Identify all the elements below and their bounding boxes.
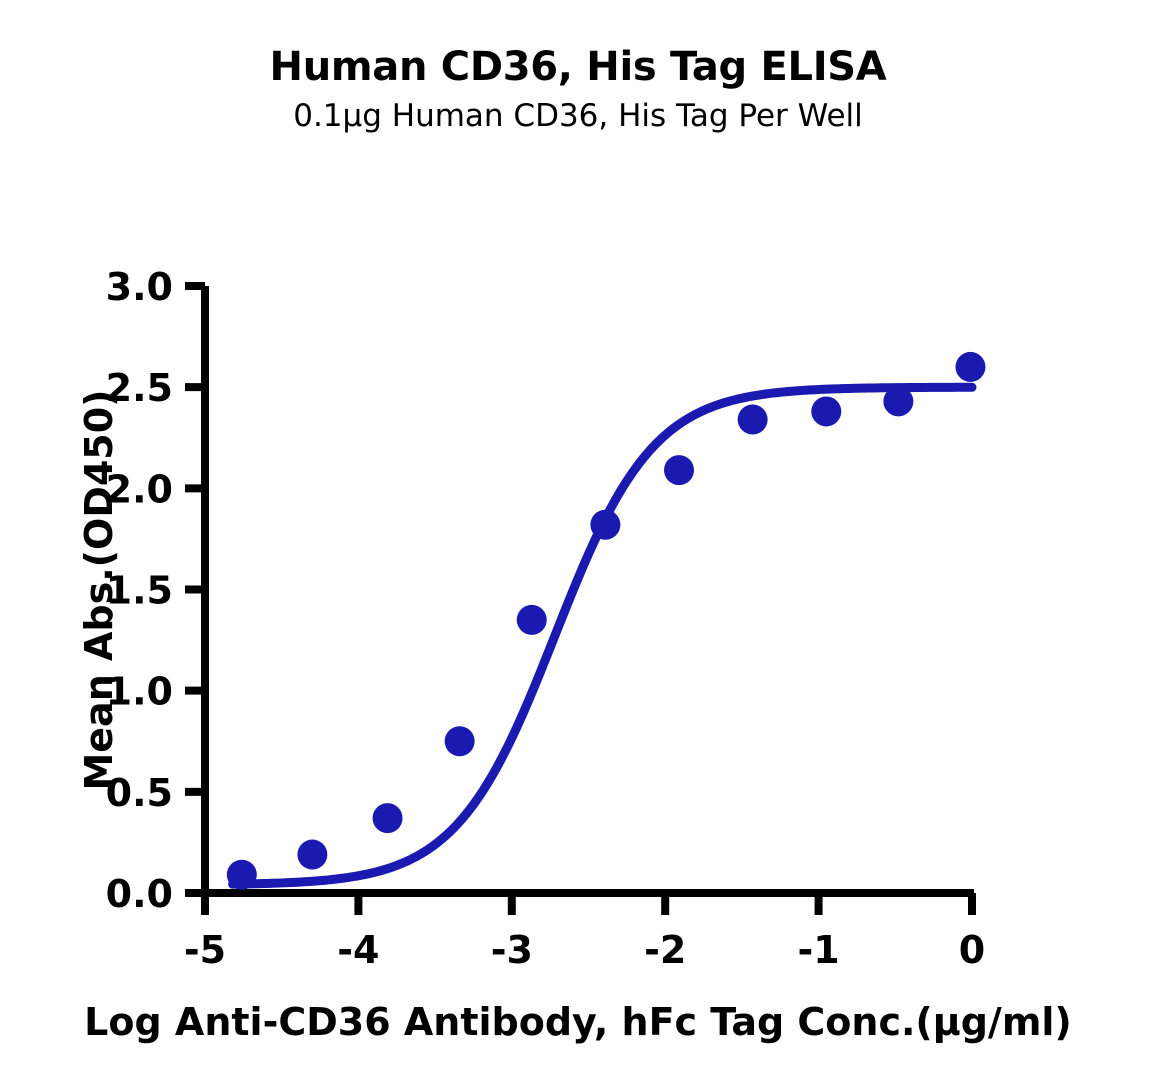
data-point <box>883 386 913 416</box>
y-tick-label: 0.0 <box>106 872 173 916</box>
data-points-group <box>227 352 986 890</box>
chart-figure: Human CD36, His Tag ELISA 0.1μg Human CD… <box>0 0 1156 1087</box>
data-point <box>227 860 257 890</box>
y-tick-label: 3.0 <box>106 265 173 309</box>
data-point <box>590 510 620 540</box>
data-point <box>517 605 547 635</box>
x-tick-label: 0 <box>959 928 985 972</box>
data-point <box>445 726 475 756</box>
data-point <box>955 352 985 382</box>
x-tick-group: -5-4-3-2-10 <box>184 893 985 972</box>
x-tick-label: -3 <box>491 928 533 972</box>
plot-area: -5-4-3-2-10 0.00.51.01.52.02.53.0 Mean A… <box>0 0 1156 1087</box>
fit-curve <box>233 387 972 884</box>
data-point <box>297 840 327 870</box>
x-axis-label: Log Anti-CD36 Antibody, hFc Tag Conc.(μg… <box>84 1000 1072 1044</box>
x-tick-label: -4 <box>337 928 379 972</box>
x-tick-label: -2 <box>644 928 686 972</box>
data-point <box>664 455 694 485</box>
data-point <box>811 396 841 426</box>
x-tick-label: -1 <box>797 928 839 972</box>
data-point <box>738 405 768 435</box>
y-axis-label: Mean Abs.(OD450) <box>77 389 121 790</box>
axes-group <box>201 286 974 893</box>
x-tick-label: -5 <box>184 928 226 972</box>
data-point <box>373 803 403 833</box>
fit-curve-group <box>233 387 972 884</box>
